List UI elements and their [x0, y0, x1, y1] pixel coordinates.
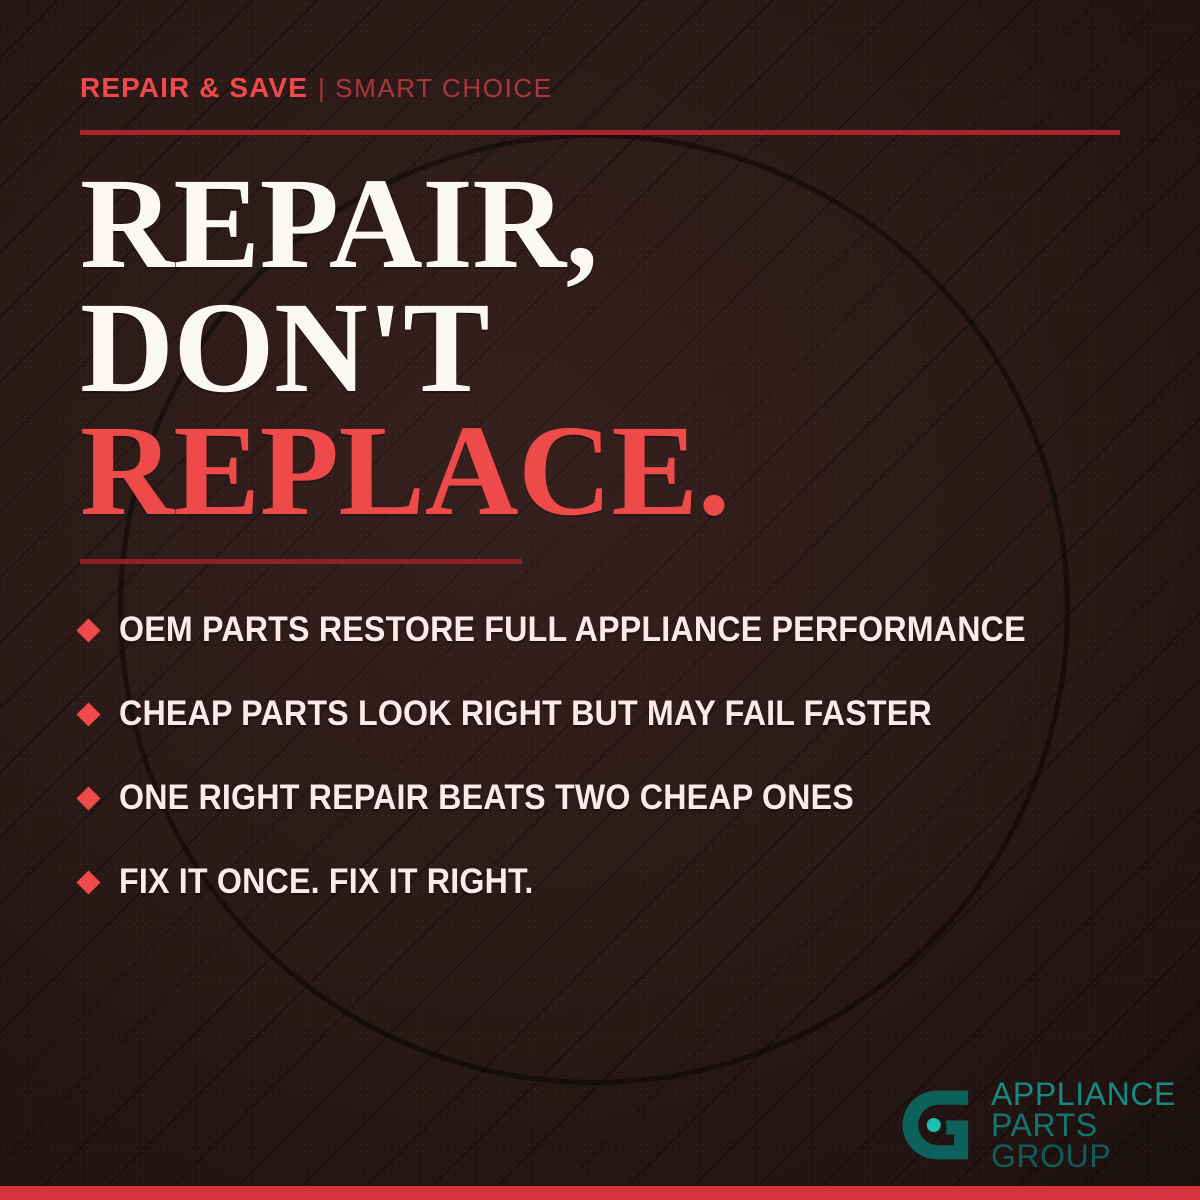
brand-word-parts: PARTS: [991, 1110, 1176, 1141]
kicker-main-label: REPAIR & SAVE: [80, 72, 308, 103]
list-item: ONE RIGHT REPAIR BEATS TWO CHEAP ONES: [80, 756, 1160, 840]
list-item: CHEAP PARTS LOOK RIGHT BUT MAY FAIL FAST…: [80, 672, 1160, 756]
headline-divider-rule: [80, 559, 522, 564]
headline-line-1: REPAIR,: [80, 163, 1140, 287]
brand-word-group: GROUP: [991, 1141, 1176, 1172]
list-item-label: FIX IT ONCE. FIX IT RIGHT.: [119, 862, 533, 902]
headline: REPAIR, DON'T REPLACE.: [80, 163, 1140, 534]
kicker-sub-label: | SMART CHOICE: [318, 73, 553, 103]
kicker: REPAIR & SAVE| SMART CHOICE: [80, 74, 553, 102]
list-item-label: ONE RIGHT REPAIR BEATS TWO CHEAP ONES: [119, 778, 854, 818]
list-item-label: CHEAP PARTS LOOK RIGHT BUT MAY FAIL FAST…: [119, 694, 932, 734]
list-item: OEM PARTS RESTORE FULL APPLIANCE PERFORM…: [80, 588, 1160, 672]
footer-accent-bar: [0, 1186, 1200, 1200]
brand-word-appliance: APPLIANCE: [991, 1079, 1176, 1110]
poster-canvas: REPAIR & SAVE| SMART CHOICE REPAIR, DON'…: [0, 0, 1200, 1200]
headline-line-2: DON'T: [80, 287, 1140, 411]
benefit-list: OEM PARTS RESTORE FULL APPLIANCE PERFORM…: [80, 588, 1160, 924]
diamond-icon: [76, 618, 100, 642]
diamond-icon: [76, 786, 100, 810]
diamond-icon: [76, 702, 100, 726]
g-monogram-icon: [901, 1086, 979, 1164]
headline-line-3: REPLACE.: [80, 410, 1140, 534]
header-divider-rule: [80, 130, 1120, 135]
brand-logo: APPLIANCE PARTS GROUP: [901, 1079, 1176, 1172]
list-item: FIX IT ONCE. FIX IT RIGHT.: [80, 840, 1160, 924]
list-item-label: OEM PARTS RESTORE FULL APPLIANCE PERFORM…: [119, 610, 1026, 650]
diamond-icon: [76, 870, 100, 894]
brand-wordmark: APPLIANCE PARTS GROUP: [991, 1079, 1176, 1172]
